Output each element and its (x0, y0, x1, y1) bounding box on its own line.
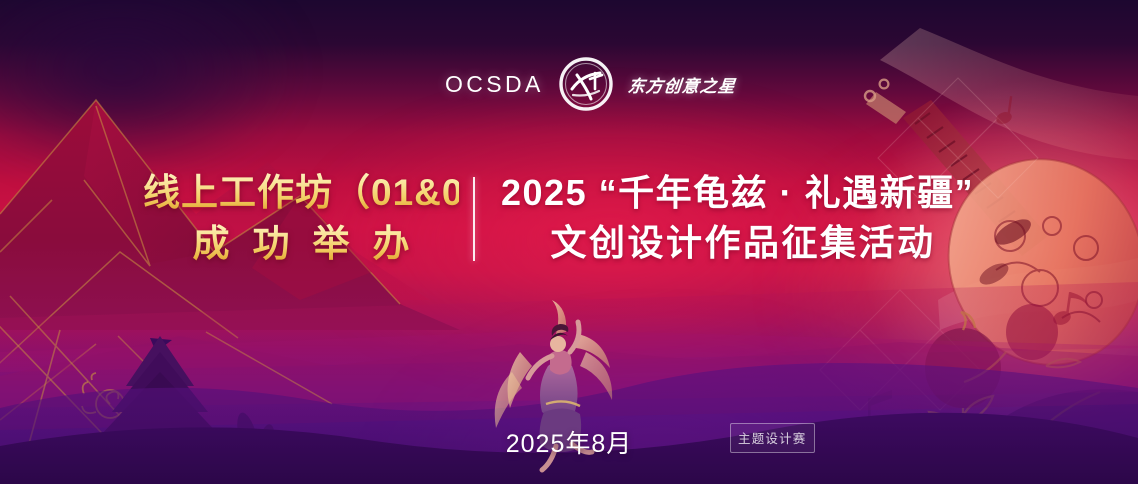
headline-left-line2: 成功举办 (143, 219, 459, 270)
headline-right-line2: 文创设计作品征集活动 (501, 218, 995, 268)
circular-brushstroke-emblem-icon (557, 55, 615, 113)
promo-banner: OCSDA 东方创意之星 线上工作坊（01&02期） 成功举办 2025 “千年… (0, 0, 1138, 484)
logo-lockup: OCSDA 东方创意之星 (445, 55, 736, 113)
headline-left: 线上工作坊（01&02期） 成功举办 (143, 168, 473, 269)
status-badge: 主题设计赛 (730, 423, 815, 453)
event-date: 2025年8月 (0, 424, 1138, 460)
headline-block: 线上工作坊（01&02期） 成功举办 2025 “千年龟兹 · 礼遇新疆” 文创… (0, 168, 1138, 269)
headline-left-line1: 线上工作坊（01&02期） (143, 168, 459, 219)
logo-chinese-name: 东方创意之星 (626, 72, 737, 97)
headline-right-line1: 2025 “千年龟兹 · 礼遇新疆” (501, 168, 995, 218)
ocsda-wordmark: OCSDA (445, 73, 544, 96)
